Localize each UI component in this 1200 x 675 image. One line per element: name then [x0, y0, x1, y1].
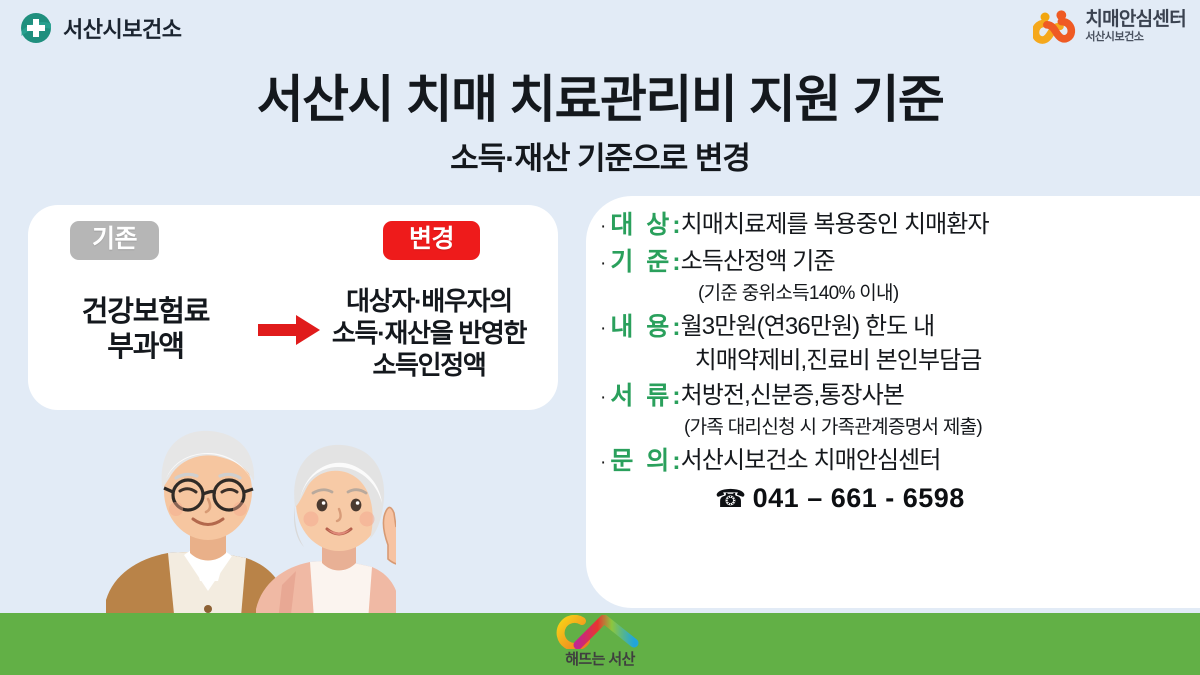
- footer-band: 해뜨는 서산: [0, 613, 1200, 675]
- comparison-old-line1: 건강보험료: [38, 295, 253, 330]
- page-subtitle: 소득·재산 기준으로 변경: [0, 133, 1200, 178]
- health-center-cross-icon: [18, 10, 54, 46]
- dementia-center-subname: 서산시보건소: [1085, 32, 1186, 44]
- info-row-criteria: · 기 준: 소득산정액 기준: [600, 245, 1194, 281]
- badge-old: 기존: [70, 221, 159, 260]
- bullet-icon: ·: [600, 453, 606, 472]
- info-label-contact: 문 의:: [610, 444, 680, 480]
- bullet-icon: ·: [600, 217, 606, 236]
- info-note-criteria: (기준 중위소득140% 이내): [600, 281, 1194, 307]
- info-note-documents: (가족 대리신청 시 가족관계증명서 제출): [600, 415, 1194, 441]
- contact-phone-number: 041 – 661 - 6598: [753, 483, 965, 513]
- comparison-new-text: 대상자·배우자의 소득·재산을 반영한 소득인정액: [310, 285, 548, 382]
- header-left-branding: 서산시보건소: [18, 10, 181, 46]
- telephone-icon: ☎: [715, 485, 747, 513]
- info-value-content: 월3만원(연36만원) 한도 내 치매약제비,진료비 본인부담금: [681, 310, 982, 378]
- poster-root: 서산시보건소 치매안심센터 서산시보건소 서산시 치매 치료관리비 지원 기준 …: [0, 0, 1200, 675]
- health-center-name: 서산시보건소: [63, 12, 181, 44]
- info-value-documents: 처방전,신분증,통장사본: [681, 379, 904, 413]
- dementia-care-people-icon: [1033, 8, 1077, 46]
- seosan-brand-text: 해뜨는 서산: [565, 648, 635, 669]
- comparison-old-line2: 부과액: [38, 330, 253, 365]
- info-list: · 대 상: 치매치료제를 복용중인 치매환자 · 기 준: 소득산정액 기준 …: [600, 208, 1194, 541]
- page-title: 서산시 치매 치료관리비 지원 기준: [0, 58, 1200, 132]
- comparison-old-text: 건강보험료 부과액: [38, 295, 253, 366]
- info-row-target: · 대 상: 치매치료제를 복용중인 치매환자: [600, 208, 1194, 244]
- info-value-contact: 서산시보건소 치매안심센터: [681, 444, 941, 478]
- bullet-icon: ·: [600, 319, 606, 338]
- info-panel: · 대 상: 치매치료제를 복용중인 치매환자 · 기 준: 소득산정액 기준 …: [586, 196, 1200, 608]
- info-value-content-line2: 치매약제비,진료비 본인부담금: [681, 344, 982, 378]
- info-label-criteria: 기 준:: [610, 245, 680, 281]
- comparison-card: 기존 변경 건강보험료 부과액 대상자·배우자의 소득·재산을 반영한 소득인정…: [28, 205, 558, 410]
- badge-new: 변경: [383, 221, 480, 260]
- info-value-criteria: 소득산정액 기준: [681, 245, 835, 279]
- info-label-documents: 서 류:: [610, 379, 680, 415]
- seosan-sunrise-swoosh-icon: [552, 615, 648, 649]
- info-row-documents: · 서 류: 처방전,신분증,통장사본: [600, 379, 1194, 415]
- comparison-new-line1: 대상자·배우자의: [310, 285, 548, 317]
- contact-phone[interactable]: ☎041 – 661 - 6598: [600, 483, 1194, 514]
- info-row-content: · 내 용: 월3만원(연36만원) 한도 내 치매약제비,진료비 본인부담금: [600, 310, 1194, 378]
- info-label-target: 대 상:: [610, 208, 680, 244]
- dementia-center-name-block: 치매안심센터 서산시보건소: [1085, 10, 1186, 43]
- info-value-target: 치매치료제를 복용중인 치매환자: [681, 208, 989, 242]
- dementia-center-name: 치매안심센터: [1085, 10, 1186, 30]
- header-right-branding: 치매안심센터 서산시보건소: [1033, 8, 1186, 46]
- comparison-new-line2: 소득·재산을 반영한: [310, 317, 548, 349]
- info-row-contact: · 문 의: 서산시보건소 치매안심센터: [600, 444, 1194, 480]
- info-label-content: 내 용:: [610, 310, 680, 346]
- comparison-new-line3: 소득인정액: [310, 349, 548, 381]
- seosan-brand: 해뜨는 서산: [525, 615, 675, 669]
- bullet-icon: ·: [600, 388, 606, 407]
- bullet-icon: ·: [600, 254, 606, 273]
